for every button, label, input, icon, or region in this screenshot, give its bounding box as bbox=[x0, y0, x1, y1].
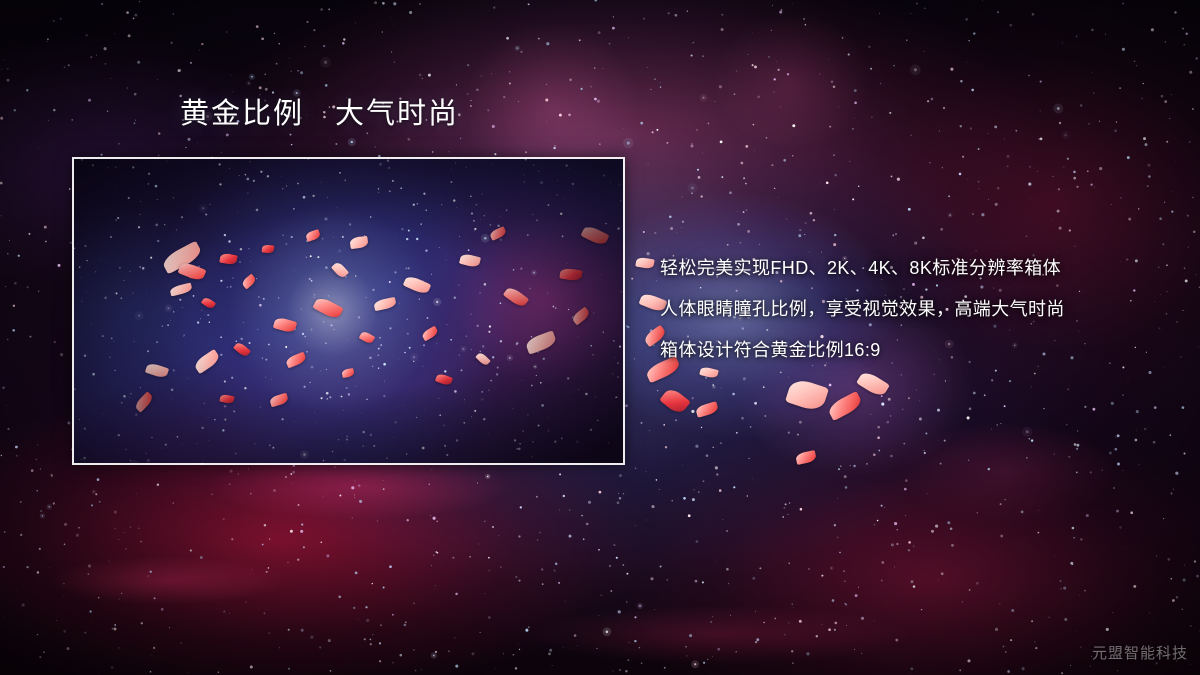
petal bbox=[785, 377, 829, 413]
petal bbox=[795, 450, 817, 465]
petal bbox=[695, 401, 719, 418]
petal bbox=[826, 391, 864, 421]
feature-line-3: 箱体设计符合黄金比例16:9 bbox=[660, 340, 1065, 361]
feature-description: 轻松完美实现FHD、2K、4K、8K标准分辨率箱体 人体眼睛瞳孔比例，享受视觉效… bbox=[660, 258, 1065, 362]
feature-line-1: 轻松完美实现FHD、2K、4K、8K标准分辨率箱体 bbox=[660, 258, 1065, 279]
petal bbox=[635, 257, 654, 270]
petal bbox=[856, 369, 890, 398]
watermark: 元盟智能科技 bbox=[1092, 642, 1188, 663]
slide-canvas: 黄金比例 大气时尚 轻松完美实现FHD、2K、4K、8K标准分辨率箱体 人体眼睛… bbox=[0, 0, 1200, 675]
feature-line-2: 人体眼睛瞳孔比例，享受视觉效果，高端大气时尚 bbox=[660, 299, 1065, 320]
petal bbox=[699, 366, 719, 379]
petal bbox=[659, 386, 691, 416]
